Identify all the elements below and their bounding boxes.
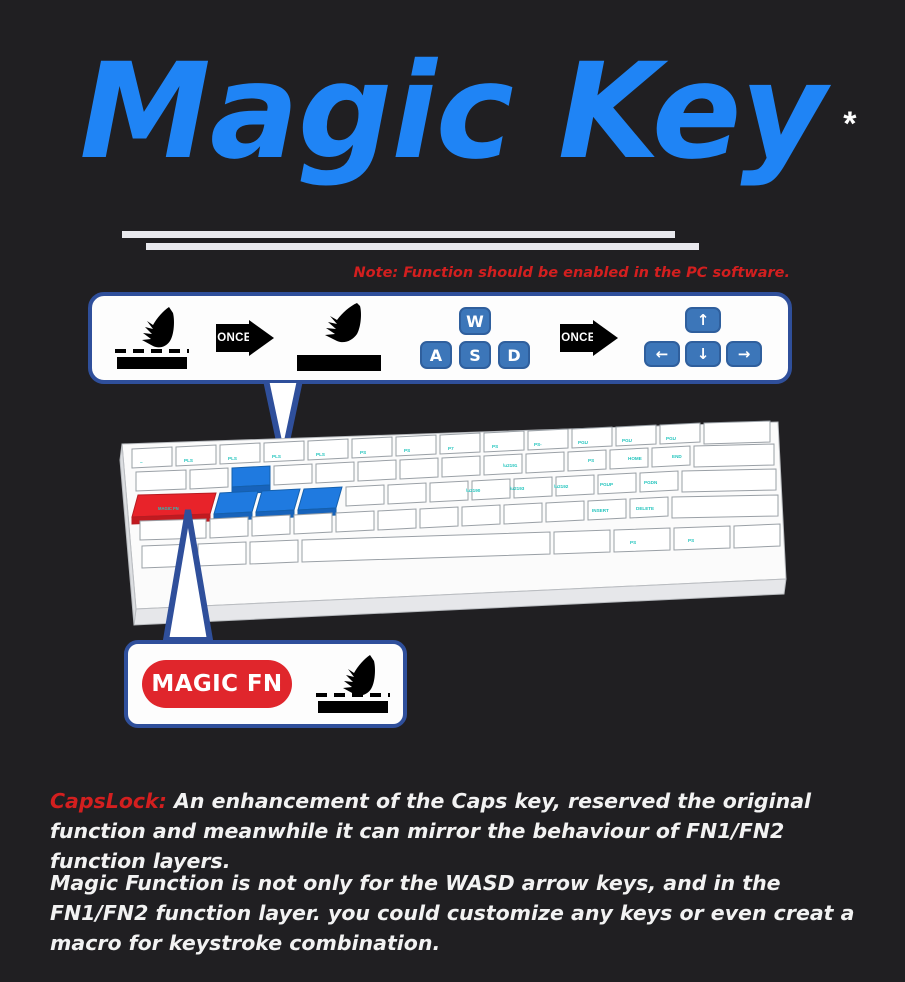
svg-text:DELETE: DELETE: [636, 506, 654, 511]
key-slab: [117, 357, 187, 369]
key-arrow-left[interactable]: ←: [644, 341, 680, 367]
svg-text:PS-: PS-: [534, 442, 542, 447]
paragraph-magic-function: Magic Function is not only for the WASD …: [50, 868, 860, 958]
key-travel-dashes: [316, 693, 390, 697]
key-arrow-right[interactable]: →: [726, 341, 762, 367]
paragraph-capslock: CapsLock: An enhancement of the Caps key…: [50, 786, 860, 876]
finger-release-key-icon: [297, 303, 381, 373]
svg-text:\u2191: \u2191: [503, 463, 518, 468]
step-arrow-keys: ↑ ← ↓ →: [628, 296, 778, 380]
svg-text:PGDN: PGDN: [644, 480, 658, 485]
divider-bar-bottom: [146, 243, 699, 250]
svg-text:PLS: PLS: [272, 454, 281, 459]
svg-text:PS: PS: [588, 458, 594, 463]
page-title-text: Magic Key: [79, 35, 825, 189]
arrow-head: [593, 320, 618, 356]
page-title: Magic Key *: [79, 46, 825, 178]
svg-text:PGUP: PGUP: [600, 482, 613, 487]
svg-text:PS: PS: [630, 540, 636, 545]
svg-text:PLS: PLS: [316, 452, 325, 457]
key-travel-dashes: [115, 349, 189, 353]
once-arrow-icon: ONCE: [216, 324, 274, 352]
svg-text:PLS: PLS: [228, 456, 237, 461]
svg-text:INSERT: INSERT: [592, 508, 609, 513]
step-release-key: [278, 296, 400, 380]
svg-text:\u2193: \u2193: [510, 486, 525, 491]
step-wasd-keys: W A S D: [400, 296, 550, 380]
sequence-panel: ONCE W A S D ONCE: [88, 292, 792, 384]
svg-text:PS: PS: [492, 444, 498, 449]
title-block: Magic Key *: [0, 46, 905, 206]
arrow-head: [249, 320, 274, 356]
asterisk-marker: *: [843, 58, 855, 190]
key-w[interactable]: W: [459, 307, 491, 335]
key-arrow-up[interactable]: ↑: [685, 307, 721, 333]
key-d[interactable]: D: [498, 341, 530, 369]
once-badge-1: ONCE: [212, 296, 278, 380]
wasd-key-cluster: W A S D: [416, 305, 534, 371]
key-slab: [297, 355, 381, 371]
svg-text:PS: PS: [360, 450, 366, 455]
key-arrow-down[interactable]: ↓: [685, 341, 721, 367]
svg-text:\u2192: \u2192: [554, 484, 569, 489]
once-label-1: ONCE: [216, 324, 253, 352]
hand-glyph: [133, 305, 181, 353]
svg-text:~: ~: [140, 460, 143, 465]
svg-text:PS: PS: [404, 448, 410, 453]
key-a[interactable]: A: [420, 341, 452, 369]
key-s[interactable]: S: [459, 341, 491, 369]
connector-arrow-up: [158, 508, 218, 644]
svg-text:PLS: PLS: [184, 458, 193, 463]
arrow-key-cluster: ↑ ← ↓ →: [644, 305, 762, 371]
svg-text:END: END: [672, 454, 682, 459]
finger-press-key-icon: [316, 653, 390, 715]
magic-fn-pill[interactable]: MAGIC FN: [142, 660, 292, 708]
svg-text:PGU: PGU: [666, 436, 677, 441]
divider-bar-top: [122, 231, 675, 238]
svg-text:\u2190: \u2190: [466, 488, 481, 493]
svg-text:P7: P7: [448, 446, 454, 451]
capslock-lead: CapsLock:: [50, 789, 167, 813]
poster-root: Magic Key * Note: Function should be ena…: [0, 0, 905, 982]
finger-press-key-icon: [115, 305, 189, 371]
step-press-key: [92, 296, 212, 380]
hand-glyph: [315, 301, 367, 347]
note-text: Note: Function should be enabled in the …: [0, 265, 790, 281]
once-badge-2: ONCE: [550, 296, 628, 380]
once-label-2: ONCE: [560, 324, 597, 352]
svg-text:PS: PS: [688, 538, 694, 543]
svg-text:HOME: HOME: [628, 456, 642, 461]
svg-text:PGU: PGU: [622, 438, 633, 443]
once-arrow-icon: ONCE: [560, 324, 618, 352]
key-slab: [318, 701, 388, 713]
magic-fn-panel: MAGIC FN: [124, 640, 407, 728]
svg-text:PGU: PGU: [578, 440, 589, 445]
